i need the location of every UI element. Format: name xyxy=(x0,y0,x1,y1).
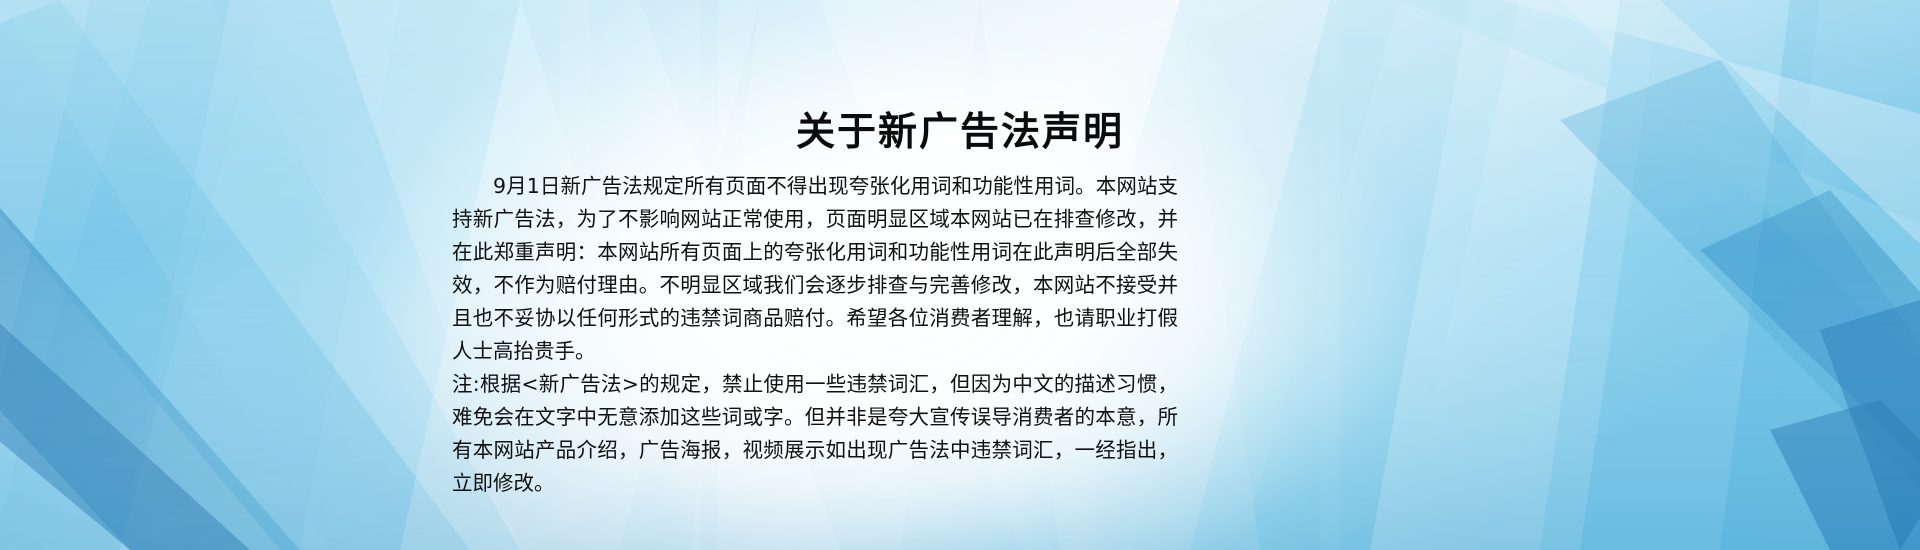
statement-paragraph-note: 注:根据<新广告法>的规定，禁止使用一些违禁词汇，但因为中文的描述习惯，难免会在… xyxy=(452,368,1178,500)
page-title: 关于新广告法声明 xyxy=(0,110,1920,157)
statement-paragraph-main: 9月1日新广告法规定所有页面不得出现夸张化用词和功能性用词。本网站支持新广告法，… xyxy=(452,170,1178,368)
statement-body-text: 9月1日新广告法规定所有页面不得出现夸张化用词和功能性用词。本网站支持新广告法，… xyxy=(452,170,1178,500)
advertising-law-statement-banner: 关于新广告法声明 9月1日新广告法规定所有页面不得出现夸张化用词和功能性用词。本… xyxy=(0,0,1920,550)
statement-content: 关于新广告法声明 9月1日新广告法规定所有页面不得出现夸张化用词和功能性用词。本… xyxy=(0,0,1920,550)
